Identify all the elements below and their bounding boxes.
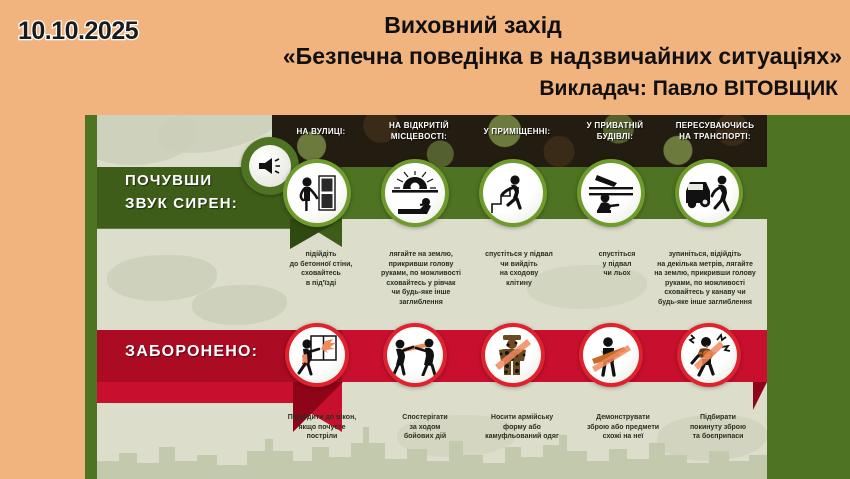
caption-line: Носити армійську xyxy=(469,413,575,423)
picking-up-explosive-icon xyxy=(681,327,737,383)
caption-indoors: спустіться у підвал чи вийдіть на сходов… xyxy=(469,250,569,288)
caption-line: до бетонної стіни, xyxy=(273,260,369,270)
caption-open-area: лягайте на землю, прикривши голову рукам… xyxy=(369,250,473,307)
caption-line: сховайтесь xyxy=(273,269,369,279)
forbidden-banner-right-cap xyxy=(753,382,767,410)
column-heading-line2: БУДІВЛІ: xyxy=(569,132,661,143)
icon-person-at-window-gunfire xyxy=(285,323,349,387)
caption-picking-up-weapons: Підбирати покинуту зброю та боєприпаси xyxy=(669,413,767,442)
caption-line: за ходом xyxy=(379,423,471,433)
caption-line: сховайтесь у рівчак xyxy=(369,279,473,289)
caption-windows: Підходити до вікон, якщо почуєте постріл… xyxy=(269,413,375,442)
caption-line: руками, по можливості xyxy=(369,269,473,279)
page-title: Виховний захід xyxy=(142,10,842,41)
icon-person-with-rifle xyxy=(579,323,643,387)
caption-line: заглиблення xyxy=(369,298,473,308)
caption-line: Підбирати xyxy=(669,413,767,423)
column-heading-line1: ПЕРЕСУВАЮЧИСЬ xyxy=(667,121,763,132)
person-watching-combat-icon xyxy=(387,327,443,383)
caption-line: руками, по можливості xyxy=(643,279,767,289)
person-leaving-car-icon xyxy=(679,163,739,223)
camouflage-clothing-icon xyxy=(485,327,541,383)
page-subtitle: «Безпечна поведінка в надзвичайних ситуа… xyxy=(142,41,842,72)
icon-person-watching-combat xyxy=(383,323,447,387)
caption-weapons-display: Демонструвати зброю або предмети схожі н… xyxy=(569,413,677,442)
column-heading-indoors: У ПРИМІЩЕННІ: xyxy=(471,127,563,138)
caption-line: чи вийдіть xyxy=(469,260,569,270)
icon-person-leaving-car xyxy=(675,159,743,227)
caption-line: лягайте на землю, xyxy=(369,250,473,260)
caption-line: підійдіть xyxy=(273,250,369,260)
caption-line: Спостерігати xyxy=(379,413,471,423)
caption-line: постріли xyxy=(269,432,375,442)
column-heading-line2: МІСЦЕВОСТІ: xyxy=(373,132,465,143)
caption-transport: зупиніться, відійдіть на декілька метрів… xyxy=(643,250,767,307)
caption-line: якщо почуєте xyxy=(269,423,375,433)
caption-camouflage: Носити армійську форму або камуфльований… xyxy=(469,413,575,442)
slide-header: 10.10.2025 Виховний захід «Безпечна пове… xyxy=(0,0,850,115)
caption-line: чи будь-яке інше xyxy=(369,288,473,298)
column-heading-line1: НА ВІДКРИТІЙ xyxy=(373,121,465,132)
icon-camouflage-clothing xyxy=(481,323,545,387)
icon-person-by-concrete-wall xyxy=(283,159,351,227)
column-heading-transport: ПЕРЕСУВАЮЧИСЬ НА ТРАНСПОРТІ: xyxy=(667,121,763,142)
caption-line: камуфльований одяг xyxy=(469,432,575,442)
person-with-rifle-icon xyxy=(583,327,639,383)
caption-street: підійдіть до бетонної стіни, сховайтесь … xyxy=(273,250,369,288)
caption-line: спустіться у підвал xyxy=(469,250,569,260)
person-by-concrete-wall-icon xyxy=(287,163,347,223)
caption-line: та боєприпаси xyxy=(669,432,767,442)
column-heading-open-area: НА ВІДКРИТІЙ МІСЦЕВОСТІ: xyxy=(373,121,465,142)
caption-line: на землю, прикривши голову xyxy=(643,269,767,279)
caption-line: в під'їзді xyxy=(273,279,369,289)
caption-line: покинуту зброю xyxy=(669,423,767,433)
icon-person-on-stairs xyxy=(479,159,547,227)
title-block: Виховний захід «Безпечна поведінка в над… xyxy=(142,10,842,106)
person-entering-cellar-icon xyxy=(581,163,641,223)
caption-line: на декілька метрів, лягайте xyxy=(643,260,767,270)
poster-page: ПОЧУВШИ ЗВУК СИРЕН: НА ВУЛИЦІ: НА ВІДКРИ… xyxy=(97,115,767,479)
column-heading-private-building: У ПРИВАТНІЙ БУДІВЛІ: xyxy=(569,121,661,142)
caption-line: клітину xyxy=(469,279,569,289)
column-heading-line2: НА ТРАНСПОРТІ: xyxy=(667,132,763,143)
caption-line: форму або xyxy=(469,423,575,433)
caption-line: бойових дій xyxy=(379,432,471,442)
person-lying-on-ground-explosion-icon xyxy=(385,163,445,223)
decorative-blob xyxy=(192,285,287,325)
caption-line: сховайтесь у канаву чи xyxy=(643,288,767,298)
column-heading-line1: У ПРИВАТНІЙ xyxy=(569,121,661,132)
caption-line: зброю або предмети xyxy=(569,423,677,433)
presenter-name: Викладач: Павло ВІТОВЩИК xyxy=(142,72,842,106)
column-heading-line1: У ПРИМІЩЕННІ: xyxy=(471,127,563,138)
caption-watching: Спостерігати за ходом бойових дій xyxy=(379,413,471,442)
column-heading-line1: НА ВУЛИЦІ: xyxy=(275,127,367,138)
icon-person-lying-on-ground xyxy=(381,159,449,227)
icon-picking-up-explosive xyxy=(677,323,741,387)
caption-line: Підходити до вікон, xyxy=(269,413,375,423)
person-on-stairs-icon xyxy=(483,163,543,223)
date-stamp: 10.10.2025 xyxy=(18,17,138,46)
caption-line: схожі на неї xyxy=(569,432,677,442)
caption-line: будь-яке інше заглиблення xyxy=(643,298,767,308)
column-heading-street: НА ВУЛИЦІ: xyxy=(275,127,367,138)
caption-line: зупиніться, відійдіть xyxy=(643,250,767,260)
caption-line: прикривши голову xyxy=(369,260,473,270)
poster-image: ПОЧУВШИ ЗВУК СИРЕН: НА ВУЛИЦІ: НА ВІДКРИ… xyxy=(85,115,850,479)
slide-canvas: 10.10.2025 Виховний захід «Безпечна пове… xyxy=(0,0,850,479)
caption-line: на сходову xyxy=(469,269,569,279)
person-at-window-gunfire-icon xyxy=(289,327,345,383)
icon-person-entering-cellar xyxy=(577,159,645,227)
caption-line: Демонструвати xyxy=(569,413,677,423)
